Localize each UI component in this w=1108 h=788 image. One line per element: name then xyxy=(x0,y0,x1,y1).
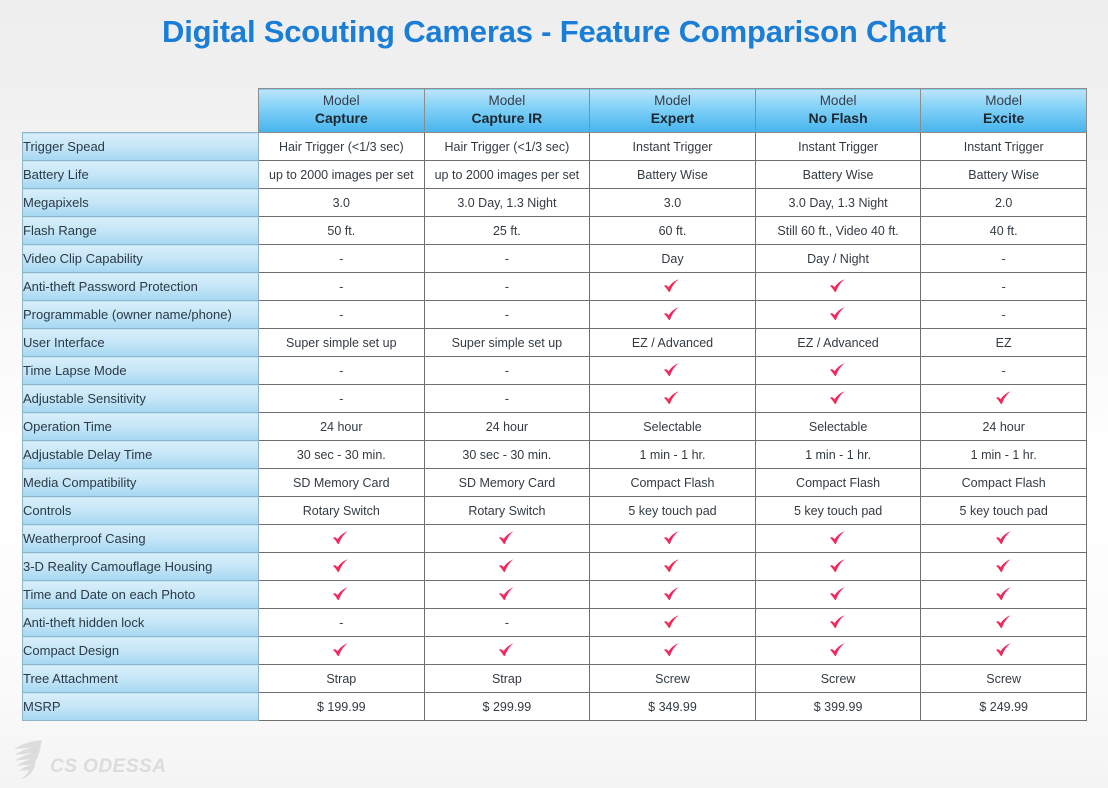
table-cell: 1 min - 1 hr. xyxy=(590,441,756,469)
check-icon xyxy=(590,357,756,385)
row-label: Tree Attachment xyxy=(23,665,259,693)
check-icon xyxy=(590,581,756,609)
check-icon xyxy=(755,301,921,329)
table-row: Operation Time24 hour24 hourSelectableSe… xyxy=(23,413,1087,441)
check-icon-glyph xyxy=(828,362,848,379)
check-icon xyxy=(424,553,590,581)
table-cell: 25 ft. xyxy=(424,217,590,245)
check-icon xyxy=(921,553,1087,581)
column-header-prefix: Model xyxy=(921,93,1086,110)
row-label: Programmable (owner name/phone) xyxy=(23,301,259,329)
check-icon-glyph xyxy=(994,530,1014,547)
row-label: Controls xyxy=(23,497,259,525)
cell-empty-dash: - xyxy=(424,385,590,413)
cell-empty-dash: - xyxy=(259,273,425,301)
row-label: Time and Date on each Photo xyxy=(23,581,259,609)
table-row: ControlsRotary SwitchRotary Switch5 key … xyxy=(23,497,1087,525)
table-cell: SD Memory Card xyxy=(259,469,425,497)
column-header-capture-ir: ModelCapture IR xyxy=(424,89,590,133)
check-icon-glyph xyxy=(662,642,682,659)
table-row: Adjustable Sensitivity-- xyxy=(23,385,1087,413)
check-icon-glyph xyxy=(497,530,517,547)
page-title: Digital Scouting Cameras - Feature Compa… xyxy=(0,14,1108,50)
check-icon-glyph xyxy=(662,530,682,547)
table-cell: Instant Trigger xyxy=(921,133,1087,161)
table-cell: Rotary Switch xyxy=(259,497,425,525)
column-header-prefix: Model xyxy=(590,93,755,110)
column-header-name: Expert xyxy=(590,110,755,128)
logo-text: CS ODESSA xyxy=(50,757,166,780)
column-header-prefix: Model xyxy=(756,93,921,110)
check-icon-glyph xyxy=(828,642,848,659)
check-icon-glyph xyxy=(662,390,682,407)
table-cell: Screw xyxy=(755,665,921,693)
check-icon-glyph xyxy=(994,586,1014,603)
table-cell: 3.0 Day, 1.3 Night xyxy=(424,189,590,217)
table-row: Anti-theft Password Protection--- xyxy=(23,273,1087,301)
table-cell: Super simple set up xyxy=(259,329,425,357)
table-cell: Selectable xyxy=(590,413,756,441)
cell-empty-dash: - xyxy=(921,245,1087,273)
check-icon-glyph xyxy=(662,306,682,323)
column-header-prefix: Model xyxy=(259,93,424,110)
check-icon-glyph xyxy=(331,558,351,575)
table-cell: 60 ft. xyxy=(590,217,756,245)
column-header-capture: ModelCapture xyxy=(259,89,425,133)
row-label: Time Lapse Mode xyxy=(23,357,259,385)
table-cell: 5 key touch pad xyxy=(755,497,921,525)
table-cell: SD Memory Card xyxy=(424,469,590,497)
row-label: MSRP xyxy=(23,693,259,721)
check-icon-glyph xyxy=(497,642,517,659)
check-icon xyxy=(755,273,921,301)
table-cell: Compact Flash xyxy=(590,469,756,497)
cell-empty-dash: - xyxy=(921,357,1087,385)
table-cell: 24 hour xyxy=(921,413,1087,441)
column-header-no-flash: ModelNo Flash xyxy=(755,89,921,133)
table-cell: $ 399.99 xyxy=(755,693,921,721)
column-header-name: No Flash xyxy=(756,110,921,128)
cell-empty-dash: - xyxy=(259,301,425,329)
table-row: Programmable (owner name/phone)--- xyxy=(23,301,1087,329)
table-row: MSRP$ 199.99$ 299.99$ 349.99$ 399.99$ 24… xyxy=(23,693,1087,721)
row-label: Adjustable Sensitivity xyxy=(23,385,259,413)
check-icon xyxy=(424,581,590,609)
table-cell: EZ xyxy=(921,329,1087,357)
brand-logo: CS ODESSA xyxy=(8,736,166,780)
row-label: Megapixels xyxy=(23,189,259,217)
table-cell: Instant Trigger xyxy=(590,133,756,161)
table-cell: Screw xyxy=(921,665,1087,693)
table-cell: Battery Wise xyxy=(755,161,921,189)
check-icon xyxy=(755,357,921,385)
table-cell: up to 2000 images per set xyxy=(424,161,590,189)
table-cell: Compact Flash xyxy=(755,469,921,497)
table-row: Battery Lifeup to 2000 images per setup … xyxy=(23,161,1087,189)
check-icon-glyph xyxy=(662,278,682,295)
column-header-expert: ModelExpert xyxy=(590,89,756,133)
table-cell: 2.0 xyxy=(921,189,1087,217)
cell-empty-dash: - xyxy=(921,301,1087,329)
table-cell: 1 min - 1 hr. xyxy=(755,441,921,469)
row-label: Anti-theft hidden lock xyxy=(23,609,259,637)
check-icon xyxy=(590,609,756,637)
table-cell: $ 299.99 xyxy=(424,693,590,721)
check-icon-glyph xyxy=(828,558,848,575)
check-icon-glyph xyxy=(828,306,848,323)
table-cell: 50 ft. xyxy=(259,217,425,245)
table-cell: Screw xyxy=(590,665,756,693)
table-cell: 3.0 xyxy=(590,189,756,217)
row-label: Flash Range xyxy=(23,217,259,245)
table-cell: 5 key touch pad xyxy=(921,497,1087,525)
row-label: Anti-theft Password Protection xyxy=(23,273,259,301)
check-icon xyxy=(755,525,921,553)
check-icon xyxy=(590,385,756,413)
cell-empty-dash: - xyxy=(259,357,425,385)
check-icon-glyph xyxy=(994,642,1014,659)
table-row: Time and Date on each Photo xyxy=(23,581,1087,609)
cell-empty-dash: - xyxy=(259,245,425,273)
check-icon-glyph xyxy=(828,390,848,407)
table-cell: Day / Night xyxy=(755,245,921,273)
check-icon-glyph xyxy=(828,530,848,547)
row-label: Weatherproof Casing xyxy=(23,525,259,553)
table-cell: EZ / Advanced xyxy=(755,329,921,357)
table-row: Tree AttachmentStrapStrapScrewScrewScrew xyxy=(23,665,1087,693)
check-icon-glyph xyxy=(662,614,682,631)
table-cell: Hair Trigger (<1/3 sec) xyxy=(259,133,425,161)
cell-empty-dash: - xyxy=(259,385,425,413)
table-row: Megapixels3.03.0 Day, 1.3 Night3.03.0 Da… xyxy=(23,189,1087,217)
table-cell: 3.0 Day, 1.3 Night xyxy=(755,189,921,217)
table-cell: 40 ft. xyxy=(921,217,1087,245)
cell-empty-dash: - xyxy=(259,609,425,637)
table-row: Compact Design xyxy=(23,637,1087,665)
table-cell: 30 sec - 30 min. xyxy=(424,441,590,469)
table-cell: 24 hour xyxy=(259,413,425,441)
table-row: Video Clip Capability--DayDay / Night- xyxy=(23,245,1087,273)
check-icon xyxy=(259,637,425,665)
table-row: Adjustable Delay Time30 sec - 30 min.30 … xyxy=(23,441,1087,469)
table-cell: $ 199.99 xyxy=(259,693,425,721)
check-icon xyxy=(590,301,756,329)
check-icon xyxy=(424,637,590,665)
check-icon-glyph xyxy=(994,390,1014,407)
header-corner-blank xyxy=(23,89,259,133)
check-icon-glyph xyxy=(994,558,1014,575)
cell-empty-dash: - xyxy=(921,273,1087,301)
feature-comparison-table: ModelCaptureModelCapture IRModelExpertMo… xyxy=(22,88,1087,721)
check-icon xyxy=(259,553,425,581)
check-icon xyxy=(755,609,921,637)
table-cell: Rotary Switch xyxy=(424,497,590,525)
check-icon xyxy=(590,525,756,553)
check-icon xyxy=(921,525,1087,553)
table-cell: EZ / Advanced xyxy=(590,329,756,357)
table-cell: 24 hour xyxy=(424,413,590,441)
check-icon-glyph xyxy=(828,586,848,603)
check-icon-glyph xyxy=(497,586,517,603)
table-row: Weatherproof Casing xyxy=(23,525,1087,553)
check-icon-glyph xyxy=(662,586,682,603)
row-label: User Interface xyxy=(23,329,259,357)
column-header-excite: ModelExcite xyxy=(921,89,1087,133)
column-header-name: Capture xyxy=(259,110,424,128)
row-label: Trigger Spead xyxy=(23,133,259,161)
table-cell: Strap xyxy=(424,665,590,693)
check-icon xyxy=(259,525,425,553)
cell-empty-dash: - xyxy=(424,273,590,301)
row-label: Media Compatibility xyxy=(23,469,259,497)
table-row: Flash Range50 ft.25 ft.60 ft.Still 60 ft… xyxy=(23,217,1087,245)
check-icon xyxy=(921,609,1087,637)
check-icon xyxy=(921,637,1087,665)
table-cell: Instant Trigger xyxy=(755,133,921,161)
check-icon xyxy=(590,273,756,301)
table-cell: Super simple set up xyxy=(424,329,590,357)
row-label: Operation Time xyxy=(23,413,259,441)
check-icon xyxy=(755,581,921,609)
table-cell: Strap xyxy=(259,665,425,693)
table-row: Anti-theft hidden lock-- xyxy=(23,609,1087,637)
check-icon xyxy=(755,637,921,665)
cell-empty-dash: - xyxy=(424,357,590,385)
column-header-prefix: Model xyxy=(425,93,590,110)
table-cell: 3.0 xyxy=(259,189,425,217)
check-icon xyxy=(921,581,1087,609)
table-cell: Compact Flash xyxy=(921,469,1087,497)
table-cell: $ 349.99 xyxy=(590,693,756,721)
check-icon-glyph xyxy=(662,558,682,575)
check-icon xyxy=(921,385,1087,413)
check-icon-glyph xyxy=(331,530,351,547)
check-icon xyxy=(590,553,756,581)
check-icon-glyph xyxy=(497,558,517,575)
check-icon xyxy=(755,385,921,413)
check-icon-glyph xyxy=(662,362,682,379)
table-row: User InterfaceSuper simple set upSuper s… xyxy=(23,329,1087,357)
row-label: Video Clip Capability xyxy=(23,245,259,273)
table-header-row: ModelCaptureModelCapture IRModelExpertMo… xyxy=(23,89,1087,133)
check-icon-glyph xyxy=(828,614,848,631)
table-cell: 1 min - 1 hr. xyxy=(921,441,1087,469)
row-label: Battery Life xyxy=(23,161,259,189)
table-cell: Still 60 ft., Video 40 ft. xyxy=(755,217,921,245)
check-icon-glyph xyxy=(994,614,1014,631)
column-header-name: Excite xyxy=(921,110,1086,128)
check-icon-glyph xyxy=(331,642,351,659)
cell-empty-dash: - xyxy=(424,609,590,637)
table-cell: Battery Wise xyxy=(590,161,756,189)
check-icon xyxy=(424,525,590,553)
table-row: Trigger SpeadHair Trigger (<1/3 sec)Hair… xyxy=(23,133,1087,161)
table-header: ModelCaptureModelCapture IRModelExpertMo… xyxy=(23,89,1087,133)
table-cell: up to 2000 images per set xyxy=(259,161,425,189)
table-cell: Hair Trigger (<1/3 sec) xyxy=(424,133,590,161)
check-icon xyxy=(259,581,425,609)
row-label: Compact Design xyxy=(23,637,259,665)
table-cell: Battery Wise xyxy=(921,161,1087,189)
column-header-name: Capture IR xyxy=(425,110,590,128)
table-row: Media CompatibilitySD Memory CardSD Memo… xyxy=(23,469,1087,497)
table-cell: 30 sec - 30 min. xyxy=(259,441,425,469)
cell-empty-dash: - xyxy=(424,301,590,329)
table-cell: $ 249.99 xyxy=(921,693,1087,721)
cell-empty-dash: - xyxy=(424,245,590,273)
check-icon-glyph xyxy=(331,586,351,603)
check-icon-glyph xyxy=(828,278,848,295)
table-row: Time Lapse Mode--- xyxy=(23,357,1087,385)
table-cell: 5 key touch pad xyxy=(590,497,756,525)
swirl-icon xyxy=(8,736,48,780)
table-cell: Selectable xyxy=(755,413,921,441)
table-cell: Day xyxy=(590,245,756,273)
row-label: 3-D Reality Camouflage Housing xyxy=(23,553,259,581)
check-icon xyxy=(755,553,921,581)
check-icon xyxy=(590,637,756,665)
row-label: Adjustable Delay Time xyxy=(23,441,259,469)
table-body: Trigger SpeadHair Trigger (<1/3 sec)Hair… xyxy=(23,133,1087,721)
table-row: 3-D Reality Camouflage Housing xyxy=(23,553,1087,581)
